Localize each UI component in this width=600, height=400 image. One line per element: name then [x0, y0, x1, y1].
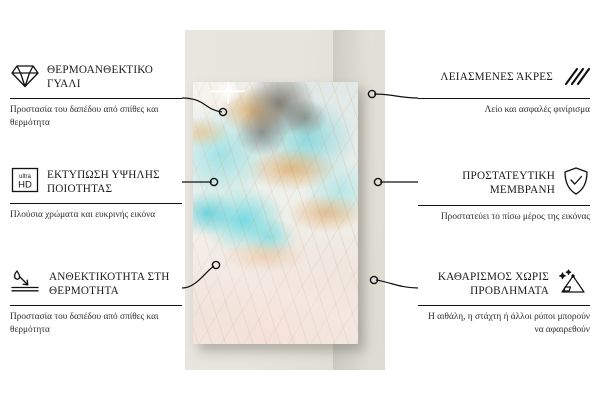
- shield-check-icon: [562, 166, 590, 201]
- divider: [10, 305, 182, 306]
- feature-description: Λείο και ασφαλές φινίρισμα: [418, 104, 590, 117]
- feature-title: ΚΑΘΑΡΙΣΜΟΣ ΧΩΡΙΣ ΠΡΟΒΛΗΜΑΤΑ: [418, 271, 549, 298]
- feature-description: Πλούσια χρώματα και ευκρινής εικόνα: [10, 209, 182, 222]
- feature-title: ΘΕΡΜΟΑΝΘΕΚΤΙΚΟ ΓΥΑΛΙ: [47, 64, 182, 91]
- feature-high-quality-print: ultra HD ΕΚΤΥΠΩΣΗ ΥΨΗΛΗΣ ΠΟΙΟΤΗΤΑΣ Πλούσ…: [10, 166, 182, 222]
- glass-panel: [193, 82, 358, 344]
- feature-title: ΕΚΤΥΠΩΣΗ ΥΨΗΛΗΣ ΠΟΙΟΤΗΤΑΣ: [47, 169, 182, 196]
- feature-protective-film: ΠΡΟΣΤΑΤΕΥΤΙΚΗ ΜΕΜΒΡΑΝΗ Προστατεύει το πί…: [418, 166, 590, 224]
- svg-text:HD: HD: [18, 180, 32, 191]
- feature-heat-resistant-glass: ΘΕΡΜΟΑΝΘΕΚΤΙΚΟ ΓΥΑΛΙ Προστασία του δαπέδ…: [10, 62, 182, 130]
- product-infographic: ΘΕΡΜΟΑΝΘΕΚΤΙΚΟ ΓΥΑΛΙ Προστασία του δαπέδ…: [0, 0, 600, 400]
- product-photo: [185, 30, 385, 370]
- feature-description: Προστασία του δαπέδου από σπίθες και θερ…: [10, 311, 182, 337]
- glass-reflection: [193, 82, 358, 344]
- feature-description: Η αιθάλη, η στάχτη ή άλλοι ρύποι μπορούν…: [418, 311, 590, 337]
- feature-description: Προστατεύει το πίσω μέρος της εικόνας: [418, 211, 590, 224]
- divider: [418, 305, 590, 306]
- heat-resistance-icon: [10, 268, 42, 301]
- feature-title: ΠΡΟΣΤΑΤΕΥΤΙΚΗ ΜΕΜΒΡΑΝΗ: [418, 170, 555, 197]
- feature-title: ΛΕΙΑΣΜΕΝΕΣ ΆΚΡΕΣ: [440, 71, 553, 85]
- feature-title: ΑΝΘΕΚΤΙΚΟΤΗΤΑ ΣΤΗ ΘΕΡΜΟΤΗΤΑ: [49, 271, 182, 298]
- glass-glare-sparkle: [215, 82, 241, 104]
- divider: [10, 98, 182, 99]
- feature-easy-cleaning: ΚΑΘΑΡΙΣΜΟΣ ΧΩΡΙΣ ΠΡΟΒΛΗΜΑΤΑ Η αιθάλη, η …: [418, 268, 590, 337]
- sparkle-clean-icon: [556, 268, 590, 301]
- feature-description: Προστασία του δαπέδου από σπίθες και θερ…: [10, 104, 182, 130]
- divider: [10, 203, 182, 204]
- feature-polished-edges: ΛΕΙΑΣΜΕΝΕΣ ΆΚΡΕΣ Λείο και ασφαλές φινίρι…: [418, 62, 590, 117]
- divider: [418, 98, 590, 99]
- divider: [418, 205, 590, 206]
- ultra-hd-badge-icon: ultra HD: [10, 166, 40, 199]
- polished-edges-icon: [560, 63, 590, 94]
- feature-heat-resistance: ΑΝΘΕΚΤΙΚΟΤΗΤΑ ΣΤΗ ΘΕΡΜΟΤΗΤΑ Προστασία το…: [10, 268, 182, 337]
- diamond-icon: [10, 63, 40, 94]
